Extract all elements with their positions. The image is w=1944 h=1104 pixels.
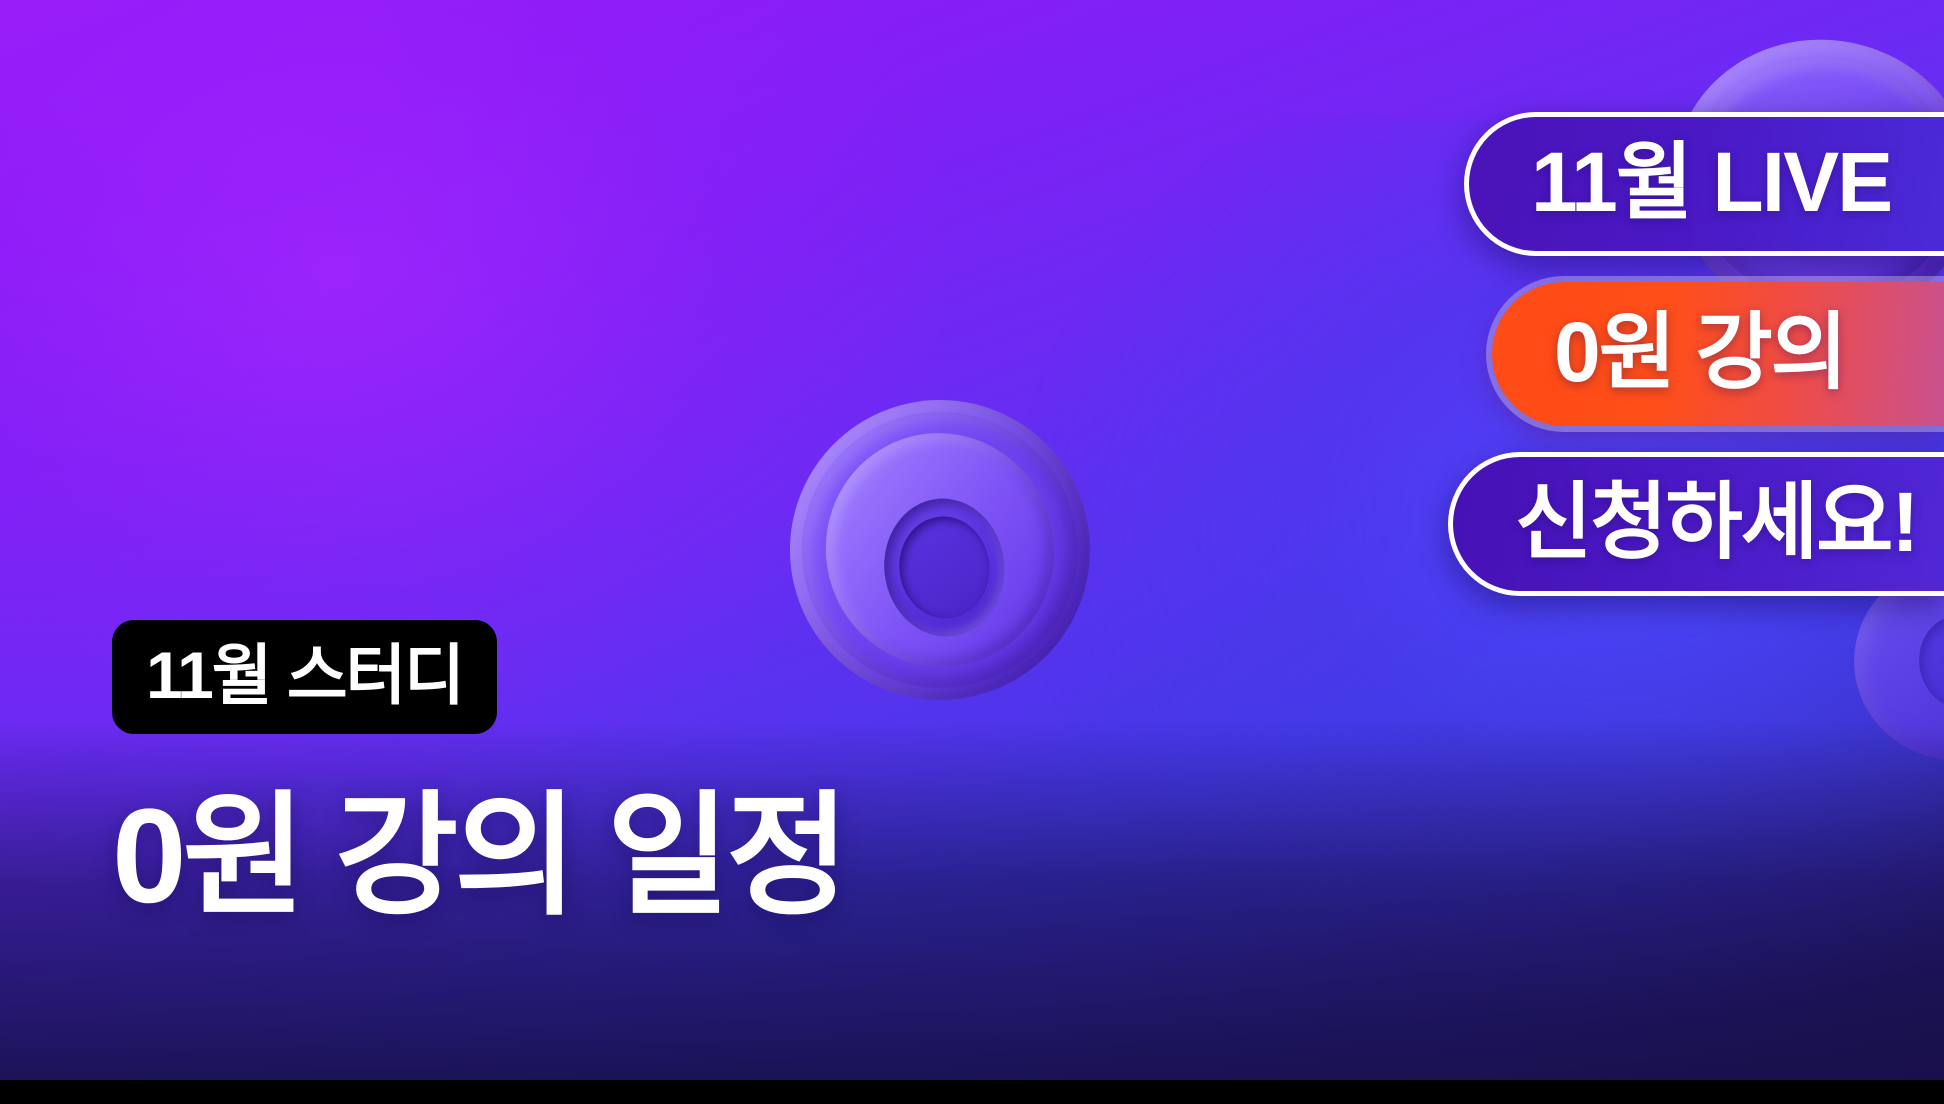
badge-apply-cta[interactable]: 신청하세요!	[1448, 452, 1944, 596]
promo-banner: 11월 LIVE 0원 강의 신청하세요! 11월 스터디 0원 강의 일정	[0, 0, 1944, 1104]
badge-free-lecture-label: 0원 강의	[1554, 310, 1846, 394]
badge-live[interactable]: 11월 LIVE	[1464, 112, 1944, 256]
eyebrow-badge: 11월 스터디	[112, 620, 497, 734]
badge-live-label: 11월 LIVE	[1531, 140, 1891, 224]
badge-free-lecture[interactable]: 0원 강의	[1492, 282, 1944, 426]
page-title: 0원 강의 일정	[112, 790, 1012, 924]
left-content: 11월 스터디 0원 강의 일정	[112, 620, 1012, 924]
badge-stack: 11월 LIVE 0원 강의 신청하세요!	[1044, 112, 1944, 596]
bottom-black-strip	[0, 1080, 1944, 1104]
badge-apply-cta-label: 신청하세요!	[1515, 480, 1917, 564]
